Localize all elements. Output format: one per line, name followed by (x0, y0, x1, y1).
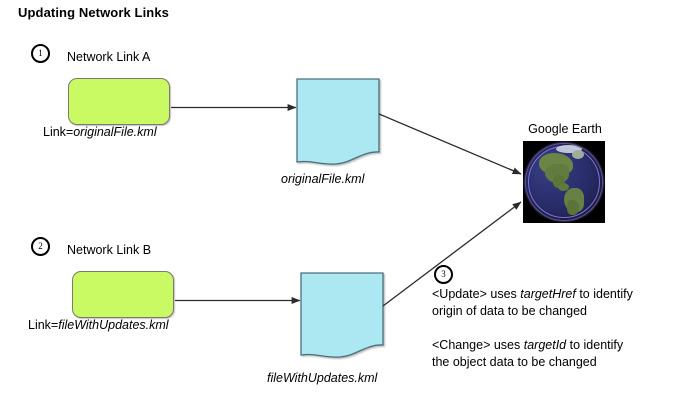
note-update-line-1-a: <Update> uses (432, 287, 520, 301)
globe-icon (523, 141, 605, 223)
link-a-value: originalFile.kml (73, 125, 156, 139)
arrow-doc-a-to-earth (379, 114, 521, 174)
note-update-line-1: <Update> uses targetHref to identify (432, 286, 633, 303)
globe-sphere (526, 144, 602, 220)
globe-land-south-america-2 (567, 200, 579, 215)
network-link-b-title: Network Link B (67, 243, 151, 257)
note-change-line-1-b: to identify (566, 338, 623, 352)
globe-land-greenland (572, 150, 584, 159)
step-badge-1-label: 1 (38, 49, 43, 58)
note-change-target-id: targetId (524, 338, 566, 352)
kml-document-shape-a (297, 79, 379, 164)
link-b-value: fileWithUpdates.kml (58, 318, 168, 332)
diagram-canvas: Updating Network Links 1 Network Link A (0, 0, 688, 411)
note-update-line-1-b: to identify (576, 287, 633, 301)
google-earth-caption: Google Earth (523, 122, 607, 136)
note-update: <Update> uses targetHref to identify ori… (432, 286, 633, 320)
step-badge-3-label: 3 (441, 270, 446, 279)
link-b-prefix: Link= (28, 318, 58, 332)
note-change: <Change> uses targetId to identify the o… (432, 337, 623, 371)
step-badge-2-label: 2 (38, 242, 43, 251)
doc-a-label: originalFile.kml (281, 172, 364, 186)
page-title: Updating Network Links (18, 5, 169, 20)
note-change-line-2: the object data to be changed (432, 354, 623, 371)
network-link-b-box[interactable] (72, 271, 174, 318)
network-link-b-href: Link=fileWithUpdates.kml (28, 318, 169, 332)
step-badge-3: 3 (434, 265, 453, 284)
step-badge-1: 1 (31, 44, 50, 63)
note-update-target-href: targetHref (520, 287, 576, 301)
link-a-prefix: Link= (43, 125, 73, 139)
step-badge-2: 2 (31, 237, 50, 256)
kml-document-shape-b (301, 273, 383, 357)
doc-b-label: fileWithUpdates.kml (267, 371, 377, 385)
note-change-line-1-a: <Change> uses (432, 338, 524, 352)
network-link-a-href: Link=originalFile.kml (43, 125, 157, 139)
note-change-line-1: <Change> uses targetId to identify (432, 337, 623, 354)
network-link-a-title: Network Link A (67, 50, 150, 64)
network-link-a-box[interactable] (68, 78, 170, 125)
note-update-line-2: origin of data to be changed (432, 303, 633, 320)
